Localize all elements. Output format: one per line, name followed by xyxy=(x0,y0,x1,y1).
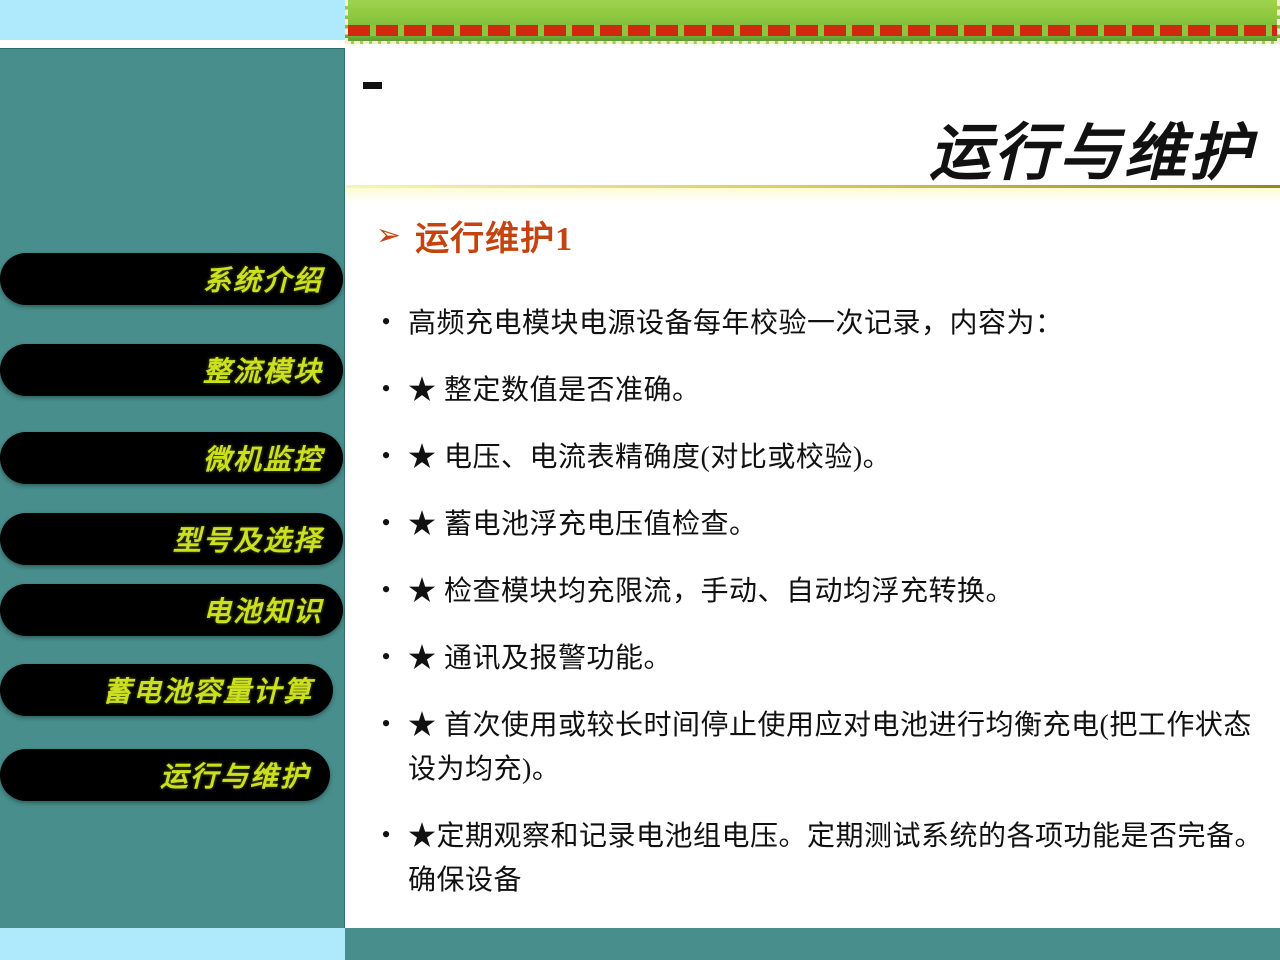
sidebar-item-label: 型号及选择 xyxy=(173,519,323,559)
list-item-text: ★ 整定数值是否准确。 xyxy=(408,369,1264,413)
sidebar-item-2[interactable]: 微机监控 xyxy=(0,432,343,484)
bullet-dot-icon: • xyxy=(364,704,408,744)
list-item-text: ★ 蓄电池浮充电压值检查。 xyxy=(408,503,1264,547)
banner-dash-strip xyxy=(348,25,1277,36)
sidebar-item-3[interactable]: 型号及选择 xyxy=(0,513,343,565)
sidebar-item-0[interactable]: 系统介绍 xyxy=(0,253,343,305)
sidebar-item-6[interactable]: 运行与维护 xyxy=(0,749,330,801)
list-item-text: 高频充电模块电源设备每年校验一次记录，内容为： xyxy=(408,302,1264,346)
bottom-left-cyan-bar xyxy=(0,928,345,960)
bullet-dot-icon: • xyxy=(364,302,408,342)
bullet-dot-icon: • xyxy=(364,815,408,855)
bullet-dot-icon: • xyxy=(364,570,408,610)
bottom-right-teal-bar xyxy=(345,928,1280,960)
list-item: • ★ 整定数值是否准确。 xyxy=(364,369,1264,413)
list-item-text: ★ 电压、电流表精确度(对比或校验)。 xyxy=(408,436,1264,480)
list-item-text: ★定期观察和记录电池组电压。定期测试系统的各项功能是否完备。确保设备 xyxy=(408,815,1264,903)
sidebar-item-label: 整流模块 xyxy=(203,350,323,390)
bullet-list: • 高频充电模块电源设备每年校验一次记录，内容为： • ★ 整定数值是否准确。 … xyxy=(364,302,1264,926)
list-item: • ★ 电压、电流表精确度(对比或校验)。 xyxy=(364,436,1264,480)
bullet-dot-icon: • xyxy=(364,436,408,476)
sidebar-item-label: 电池知识 xyxy=(203,590,323,630)
dash-mark xyxy=(363,82,382,89)
sidebar-item-1[interactable]: 整流模块 xyxy=(0,344,343,396)
list-item: • ★ 检查模块均充限流，手动、自动均浮充转换。 xyxy=(364,570,1264,614)
navigation-sidebar: 系统介绍 整流模块 微机监控 型号及选择 电池知识 蓄电池容量计算 运行与维护 xyxy=(0,48,345,928)
list-item-text: ★ 首次使用或较长时间停止使用应对电池进行均衡充电(把工作状态设为均充)。 xyxy=(408,704,1264,792)
page-title: 运行与维护 xyxy=(929,102,1254,192)
top-green-banner xyxy=(345,0,1280,44)
list-item-text: ★ 检查模块均充限流，手动、自动均浮充转换。 xyxy=(408,570,1264,614)
section-heading: ➢ 运行维护1 xyxy=(376,211,573,260)
list-item: • ★定期观察和记录电池组电压。定期测试系统的各项功能是否完备。确保设备 xyxy=(364,815,1264,903)
slide-canvas: 系统介绍 整流模块 微机监控 型号及选择 电池知识 蓄电池容量计算 运行与维护 … xyxy=(0,0,1280,960)
bullet-dot-icon: • xyxy=(364,503,408,543)
sidebar-item-label: 微机监控 xyxy=(203,438,323,478)
sidebar-item-label: 蓄电池容量计算 xyxy=(103,670,313,710)
list-item-text: ★ 通讯及报警功能。 xyxy=(408,637,1264,681)
arrow-bullet-icon: ➢ xyxy=(376,221,401,251)
list-item: • ★ 通讯及报警功能。 xyxy=(364,637,1264,681)
top-left-cyan-block xyxy=(0,0,345,40)
sidebar-item-label: 系统介绍 xyxy=(203,259,323,299)
list-item: • ★ 首次使用或较长时间停止使用应对电池进行均衡充电(把工作状态设为均充)。 xyxy=(364,704,1264,792)
sidebar-item-5[interactable]: 蓄电池容量计算 xyxy=(0,664,333,716)
list-item: • 高频充电模块电源设备每年校验一次记录，内容为： xyxy=(364,302,1264,346)
bullet-dot-icon: • xyxy=(364,369,408,409)
title-divider-glow xyxy=(346,188,1280,202)
section-heading-text: 运行维护1 xyxy=(415,211,573,260)
list-item: • ★ 蓄电池浮充电压值检查。 xyxy=(364,503,1264,547)
slide-content-pane: 运行与维护 ➢ 运行维护1 • 高频充电模块电源设备每年校验一次记录，内容为： … xyxy=(346,44,1280,928)
sidebar-item-4[interactable]: 电池知识 xyxy=(0,584,343,636)
sidebar-item-label: 运行与维护 xyxy=(160,755,310,795)
bullet-dot-icon: • xyxy=(364,637,408,677)
